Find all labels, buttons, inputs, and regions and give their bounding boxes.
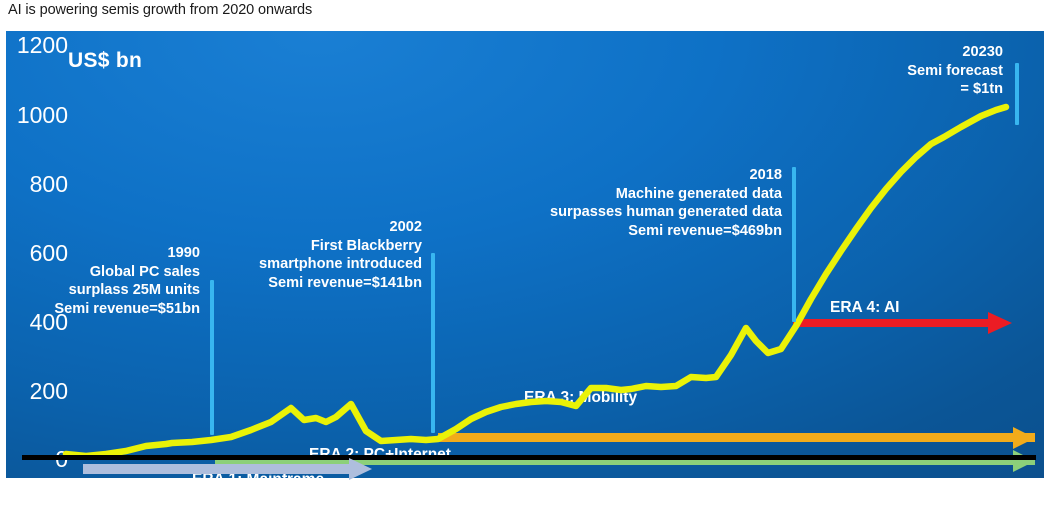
annotation-2002: 2002 First Blackberry smartphone introdu…: [246, 218, 422, 293]
annotation-2018-year: 2018: [516, 166, 782, 185]
annotation-2018-line2: surpasses human generated data: [516, 203, 782, 222]
x-tick-2020: 2020: [786, 478, 829, 501]
annotation-1990-line3: Semi revenue=$51bn: [48, 300, 200, 319]
annotation-2002-line1: First Blackberry: [246, 237, 422, 256]
annotation-1990: 1990 Global PC sales surplass 25M units …: [48, 244, 200, 319]
x-tick-1990: 1990: [186, 478, 229, 501]
annotation-2002-line2: smartphone introduced: [246, 255, 422, 274]
annotation-2030-year: 20230: [851, 43, 1003, 62]
annotation-2018-line1: Machine generated data: [516, 185, 782, 204]
annotation-2018-line3: Semi revenue=$469bn: [516, 222, 782, 241]
x-tick-1996: 1996: [306, 478, 349, 501]
era-1-arrow-head: [349, 458, 372, 480]
annotation-2002-line3: Semi revenue=$141bn: [246, 274, 422, 293]
annotation-2002-year: 2002: [246, 218, 422, 237]
x-axis: 1984 1990 1996 2002 2008 2014 2020 2030E: [0, 478, 1050, 507]
x-tick-2008: 2008: [546, 478, 589, 501]
x-tick-2014: 2014: [666, 478, 709, 501]
annotation-1990-line2: surplass 25M units: [48, 281, 200, 300]
x-tick-1984: 1984: [45, 478, 88, 501]
annotation-2018: 2018 Machine generated data surpasses hu…: [516, 166, 782, 241]
x-tick-2030E: 2030E: [982, 478, 1038, 501]
annotation-1990-year: 1990: [48, 244, 200, 263]
chart-plot-area: 1200 1000 800 600 400 200 0 US$ bn ERA 2…: [6, 31, 1044, 478]
callout-tick-2030: [1015, 63, 1019, 125]
annotation-2030-line1: Semi forecast: [851, 62, 1003, 81]
annotation-1990-line1: Global PC sales: [48, 263, 200, 282]
annotation-2030: 20230 Semi forecast = $1tn: [851, 43, 1003, 99]
x-axis-line: [22, 455, 1036, 460]
page-title: AI is powering semis growth from 2020 on…: [8, 2, 312, 18]
callout-tick-1990: [210, 280, 214, 435]
callout-tick-2002: [431, 253, 435, 433]
x-tick-2002: 2002: [426, 478, 469, 501]
annotation-2030-line2: = $1tn: [851, 80, 1003, 99]
era-1-arrow-shaft: [83, 464, 351, 474]
callout-tick-2018: [792, 167, 796, 322]
